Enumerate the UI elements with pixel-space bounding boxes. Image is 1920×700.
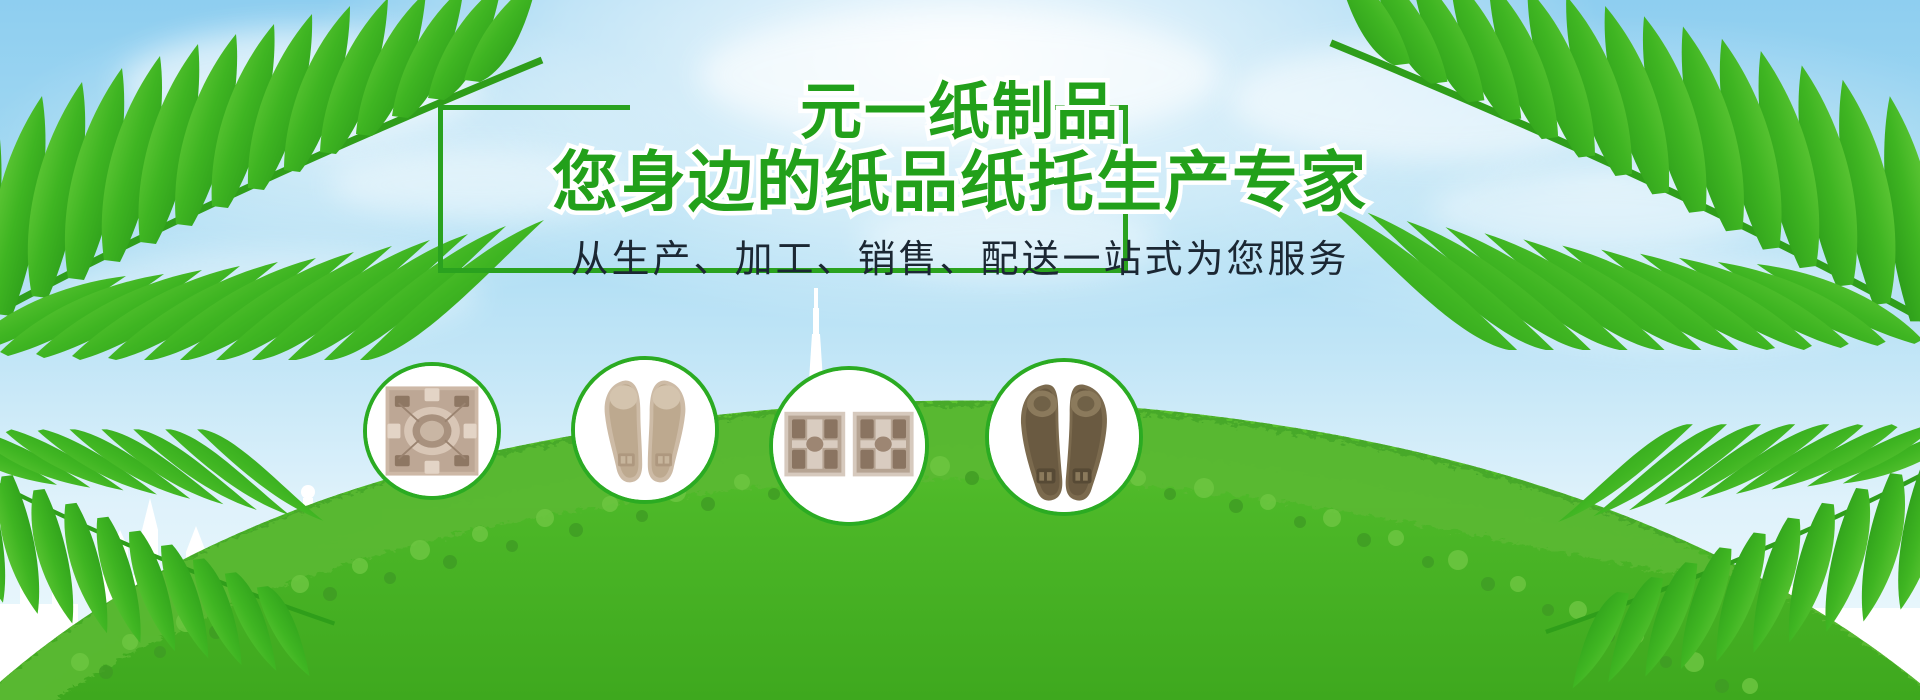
banner-text-block: 元一纸制品 您身边的纸品纸托生产专家 从生产、加工、销售、配送一站式为您服务 <box>0 0 1920 340</box>
product-circle[interactable] <box>363 362 501 500</box>
paper-pulp-corner-protectors <box>773 370 925 522</box>
palm-frond-icon <box>0 410 340 700</box>
palm-frond-icon <box>1540 410 1920 700</box>
product-circle[interactable] <box>985 358 1143 516</box>
paper-pulp-shoe-inserts-pair <box>575 360 715 500</box>
promotional-banner: 元一纸制品 您身边的纸品纸托生产专家 从生产、加工、销售、配送一站式为您服务 <box>0 0 1920 700</box>
product-circle[interactable] <box>571 356 719 504</box>
brand-title: 元一纸制品 <box>0 78 1920 148</box>
paper-pulp-square-tray <box>367 366 497 496</box>
paper-pulp-shoe-trees-pair <box>989 362 1139 512</box>
product-circle[interactable] <box>769 366 929 526</box>
page-title: 您身边的纸品纸托生产专家 <box>0 144 1920 220</box>
banner-subtitle: 从生产、加工、销售、配送一站式为您服务 <box>0 236 1920 284</box>
